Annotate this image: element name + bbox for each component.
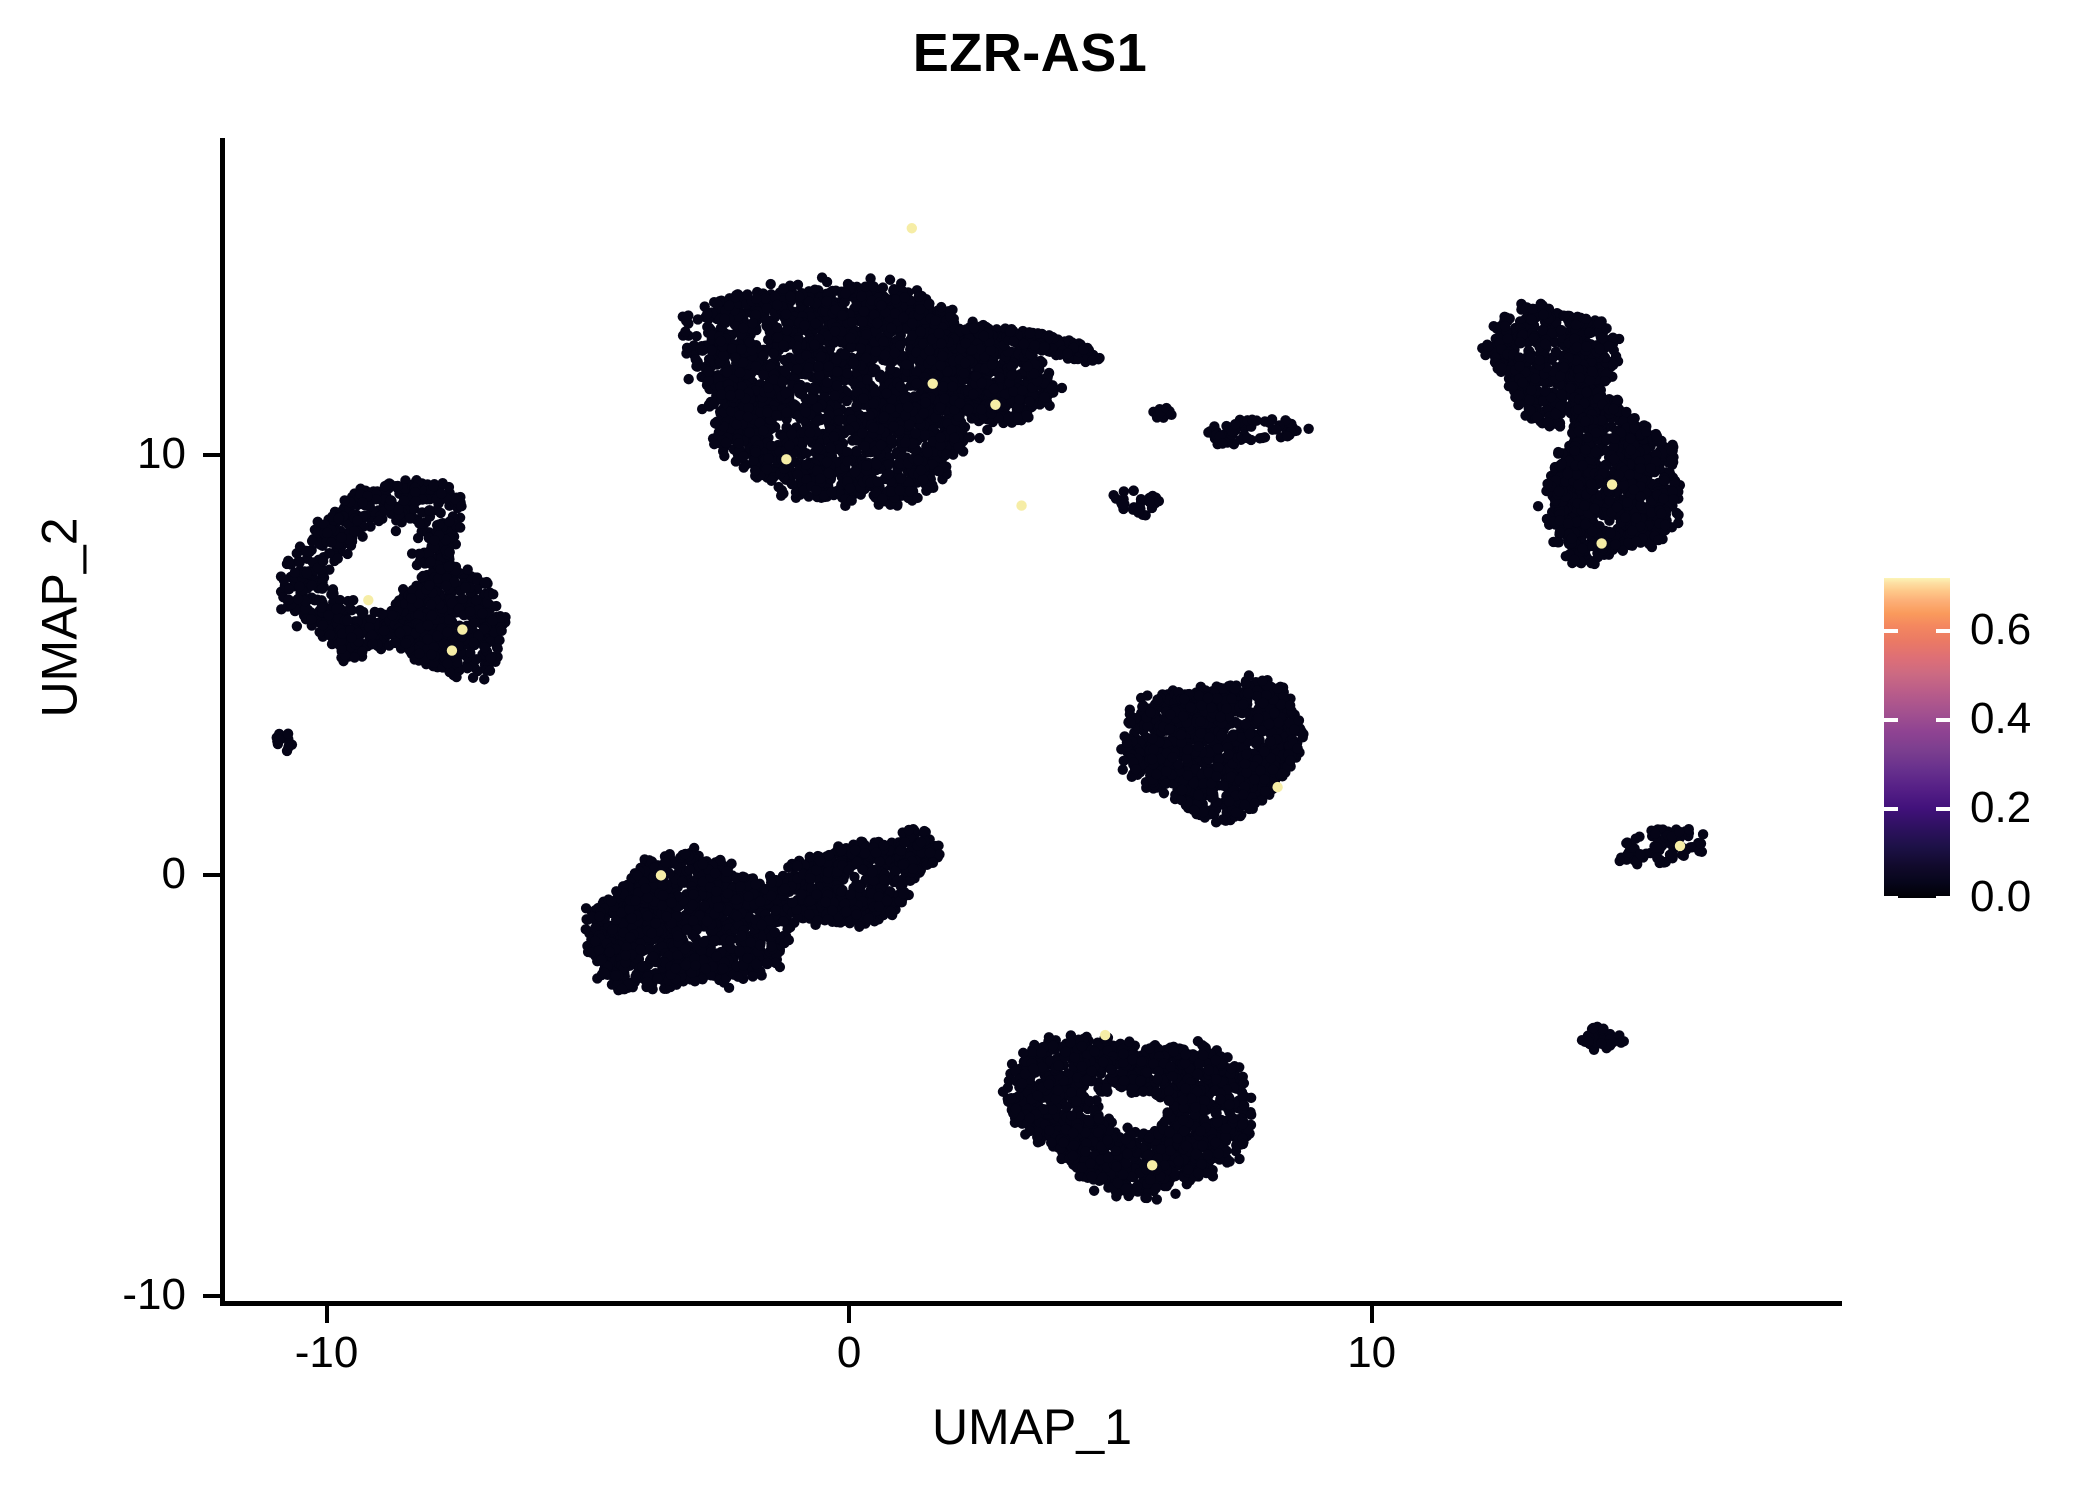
colorbar-tick-mark	[1884, 807, 1898, 811]
colorbar-tick-mark	[1936, 896, 1950, 900]
colorbar-tick-mark	[1936, 718, 1950, 722]
y-tick-label: -10	[0, 1272, 186, 1318]
x-axis-title: UMAP_1	[222, 1400, 1842, 1455]
colorbar-tick-mark	[1884, 896, 1898, 900]
scatter-points-layer	[222, 140, 1842, 1304]
x-tick-mark	[1370, 1306, 1374, 1323]
page-title: EZR-AS1	[0, 24, 2060, 83]
y-axis-title: UMAP_2	[33, 218, 88, 1018]
colorbar-tick-mark	[1936, 807, 1950, 811]
y-axis-line	[220, 138, 225, 1306]
colorbar-legend: 0.60.40.20.0	[1884, 578, 2094, 898]
x-tick-label: -10	[227, 1330, 427, 1376]
y-tick-label: 0	[0, 851, 186, 897]
x-tick-label: 10	[1272, 1330, 1472, 1376]
colorbar-tick-mark	[1884, 629, 1898, 633]
x-tick-mark	[325, 1306, 329, 1323]
colorbar-tick-label: 0.2	[1970, 785, 2100, 831]
colorbar-tick-mark	[1884, 718, 1898, 722]
x-axis-line	[220, 1301, 1842, 1306]
colorbar-tick-label: 0.6	[1970, 607, 2100, 653]
colorbar-gradient	[1884, 578, 1950, 898]
colorbar-tick-mark	[1936, 629, 1950, 633]
y-tick-mark	[203, 873, 220, 877]
x-tick-label: 0	[749, 1330, 949, 1376]
y-tick-mark	[203, 453, 220, 457]
colorbar-tick-label: 0.0	[1970, 874, 2100, 920]
scatter-plot-figure: EZR-AS1 -10010 100-10 UMAP_1 UMAP_2 0.60…	[0, 0, 2100, 1500]
plot-panel	[222, 140, 1842, 1304]
colorbar-tick-label: 0.4	[1970, 696, 2100, 742]
y-tick-mark	[203, 1294, 220, 1298]
x-tick-mark	[847, 1306, 851, 1323]
y-tick-label: 10	[0, 431, 186, 477]
